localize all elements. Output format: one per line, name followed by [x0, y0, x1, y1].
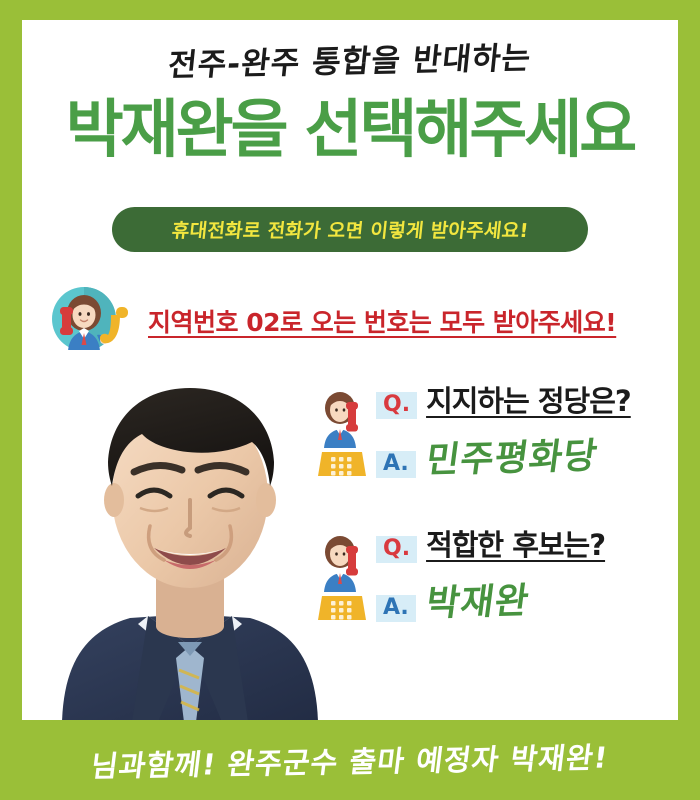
- qa-block: Q. 지지하는 정당은? A. 민주평화당: [314, 378, 631, 481]
- candidate-portrait: [30, 350, 350, 720]
- qa-answer-text: 민주평화당: [423, 427, 601, 483]
- instruction-banner-text: 휴대전화로 전화가 오면 이렇게 받아주세요!: [170, 216, 530, 243]
- area-code-callout: 지역번호 02로 오는 번호는 모두 받아주세요!: [46, 282, 666, 360]
- campaign-poster: 전주-완주 통합을 반대하는 박재완을 선택해주세요 휴대전화로 전화가 오면 …: [0, 0, 700, 800]
- qa-answer-row: A. 민주평화당: [376, 429, 631, 481]
- poster-subtitle: 전주-완주 통합을 반대하는: [22, 29, 678, 88]
- phone-operator-icon: [314, 384, 372, 480]
- qa-body: Q. 지지하는 정당은? A. 민주평화당: [376, 378, 631, 481]
- qa-body: Q. 적합한 후보는? A. 박재완: [376, 522, 605, 625]
- qa-question-text: 지지하는 정당은?: [426, 378, 631, 420]
- call-operator-icon: [46, 283, 142, 359]
- qa-block: Q. 적합한 후보는? A. 박재완: [314, 522, 605, 625]
- qa-question-row: Q. 지지하는 정당은?: [376, 378, 631, 420]
- qa-question-text: 적합한 후보는?: [426, 522, 605, 564]
- instruction-banner: 휴대전화로 전화가 오면 이렇게 받아주세요!: [112, 207, 588, 252]
- footer-slogan: 님과함께! 완주군수 출마 예정자 박재완!: [0, 720, 700, 800]
- question-badge: Q.: [376, 536, 417, 563]
- qa-question-row: Q. 적합한 후보는?: [376, 522, 605, 564]
- phone-operator-icon: [314, 528, 372, 624]
- qa-answer-row: A. 박재완: [376, 573, 605, 625]
- footer-slogan-text: 님과함께! 완주군수 출마 예정자 박재완!: [89, 735, 611, 786]
- answer-badge: A.: [376, 595, 416, 622]
- area-code-callout-text: 지역번호 02로 오는 번호는 모두 받아주세요!: [148, 303, 616, 339]
- poster-headline: 박재완을 선택해주세요: [22, 98, 678, 161]
- qa-answer-text: 박재완: [423, 572, 533, 627]
- poster-white-card: 전주-완주 통합을 반대하는 박재완을 선택해주세요 휴대전화로 전화가 오면 …: [22, 20, 678, 720]
- answer-badge: A.: [376, 451, 416, 478]
- question-badge: Q.: [376, 392, 417, 419]
